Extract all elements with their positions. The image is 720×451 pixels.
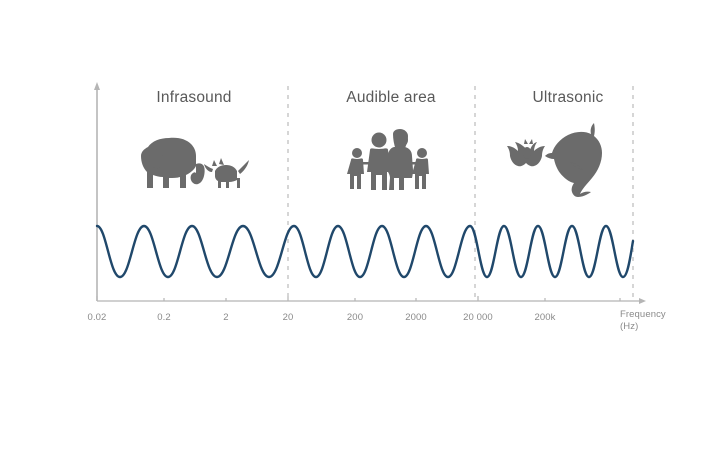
tick-label-4: 200 [347,312,363,323]
x-axis [97,296,646,304]
band-dividers [288,86,633,300]
tick-label-5: 2000 [405,312,427,323]
tick-label-7: 200k [534,312,555,323]
elephant-silhouette [141,138,205,188]
x-axis-ticks [97,296,620,301]
dolphin-silhouette [545,123,602,197]
band-title-audible-area: Audible area [346,89,435,107]
x-axis-caption-line2: (Hz) [620,321,666,333]
x-axis-caption-line1: Frequency [620,309,666,321]
band-title-infrasound: Infrasound [156,89,231,107]
family-silhouette [347,129,429,190]
tick-label-0: 0.02 [88,312,107,323]
frequency-waveform [97,226,633,277]
tick-label-6: 20 000 [463,312,493,323]
sound-frequency-spectrum-figure: Infrasound Audible area Ultrasonic 0.02 … [0,0,720,451]
tick-label-2: 2 [223,312,228,323]
y-axis [94,82,100,301]
band-title-ultrasonic: Ultrasonic [533,89,604,107]
tick-label-1: 0.2 [157,312,171,323]
cat-silhouette [204,158,249,188]
x-axis-caption: Frequency (Hz) [620,309,666,333]
tick-label-3: 20 [283,312,294,323]
figure-graphics-layer [0,0,720,451]
bat-silhouette [507,139,545,166]
